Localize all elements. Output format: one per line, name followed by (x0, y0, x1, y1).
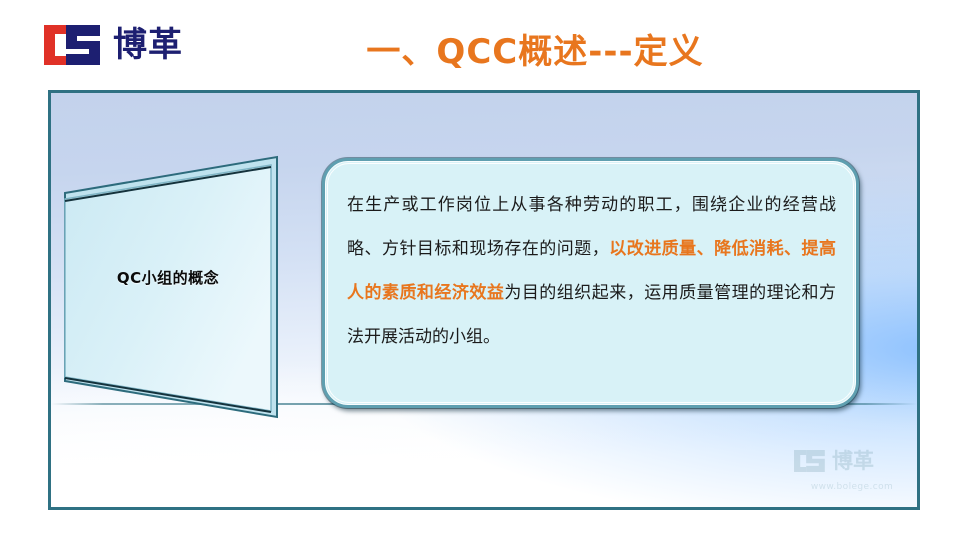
page-title: 一、QCC概述---定义 (0, 24, 960, 73)
watermark-logo: 博革 (793, 441, 911, 481)
watermark-bg-monogram-icon (793, 447, 827, 475)
definition-panel: 在生产或工作岗位上从事各种劳动的职工，围绕企业的经营战略、方针目标和现场存在的问… (322, 158, 859, 408)
definition-text: 在生产或工作岗位上从事各种劳动的职工，围绕企业的经营战略、方针目标和现场存在的问… (347, 183, 836, 389)
watermark: 博革 www.bolege.com (793, 441, 911, 503)
slide-header: 博革 一、QCC概述---定义 (0, 0, 960, 90)
watermark-url: www.bolege.com (793, 482, 911, 492)
watermark-wordmark: 博革 (832, 447, 874, 475)
slide-canvas: 博革 一、QCC概述---定义 (0, 0, 960, 540)
concept-callout: QC小组的概念 (59, 151, 295, 423)
content-frame: QC小组的概念 在生产或工作岗位上从事各种劳动的职工，围绕企业的经营战略、方针目… (48, 90, 920, 510)
concept-callout-label: QC小组的概念 (73, 267, 263, 288)
